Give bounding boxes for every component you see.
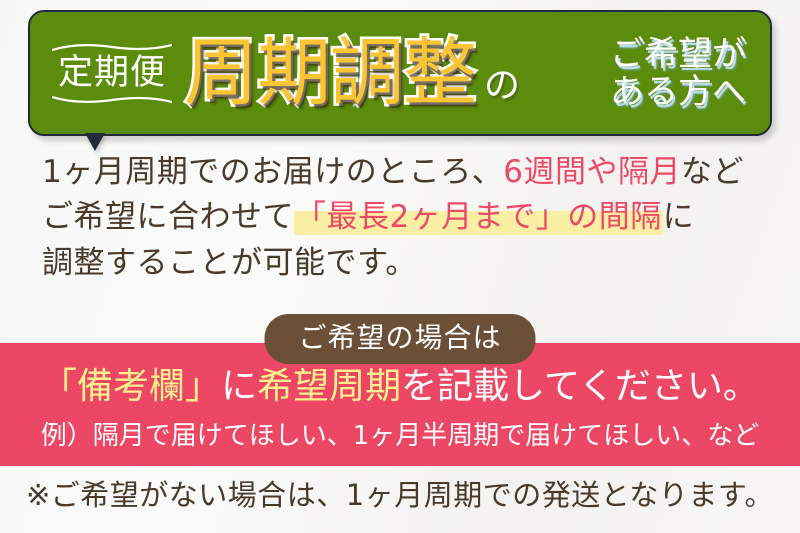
body-line-1: 1ヶ月周期でのお届けのところ、6週間や隔月など — [42, 150, 768, 195]
body-paragraph: 1ヶ月周期でのお届けのところ、6週間や隔月など ご希望に合わせて「最長2ヶ月まで… — [42, 150, 768, 286]
body-line-2-post: に — [663, 199, 695, 235]
body-line-1-emphasis: 6週間や隔月 — [503, 154, 681, 190]
instruction-headline-part-2: に — [221, 366, 257, 407]
header-title: 周期調整 — [184, 36, 476, 110]
body-line-3: 調整することが可能です。 — [42, 241, 768, 286]
header-subtitle: ご希望が ある方へ — [610, 35, 746, 111]
body-line-2-pre: ご希望に合わせて — [42, 199, 294, 235]
header-particle: の — [484, 68, 520, 104]
instruction-headline: 「備考欄」に希望周期を記載してください。 — [0, 369, 800, 405]
instruction-examples: 例）隔月で届けてほしい、1ヶ月半周期で届けてほしい、など — [0, 423, 800, 449]
wavy-rule-top-icon — [52, 43, 172, 53]
header-subtitle-line-1: ご希望が — [610, 35, 746, 73]
instruction-headline-part-4: を記載してください。 — [401, 366, 759, 407]
body-line-1-pre: 1ヶ月周期でのお届けのところ、 — [42, 154, 503, 190]
condition-pill-label: ご希望の場合は — [264, 314, 535, 364]
header-bubble-content: 定期便 周期調整 の ご希望が ある方へ — [30, 12, 770, 134]
instruction-cycle-term: 希望周期 — [257, 366, 401, 407]
subscription-badge: 定期便 — [52, 43, 172, 104]
header-bubble-tail — [86, 134, 104, 150]
body-line-1-post: など — [681, 154, 744, 190]
body-line-2-highlight: 「最長2ヶ月まで」の間隔 — [294, 199, 663, 235]
footnote-text: ※ご希望がない場合は、1ヶ月周期での発送となります。 — [0, 481, 800, 510]
wavy-rule-bottom-icon — [52, 94, 172, 104]
body-line-2: ご希望に合わせて「最長2ヶ月まで」の間隔に — [42, 195, 768, 240]
instruction-field-name: 「備考欄」 — [41, 366, 221, 407]
header-bubble: 定期便 周期調整 の ご希望が ある方へ — [28, 10, 772, 136]
promo-banner: 定期便 周期調整 の ご希望が ある方へ 1ヶ月周期でのお届けのところ、6週間や… — [0, 0, 800, 533]
subscription-badge-label: 定期便 — [58, 53, 166, 93]
header-subtitle-line-2: ある方へ — [610, 73, 746, 111]
